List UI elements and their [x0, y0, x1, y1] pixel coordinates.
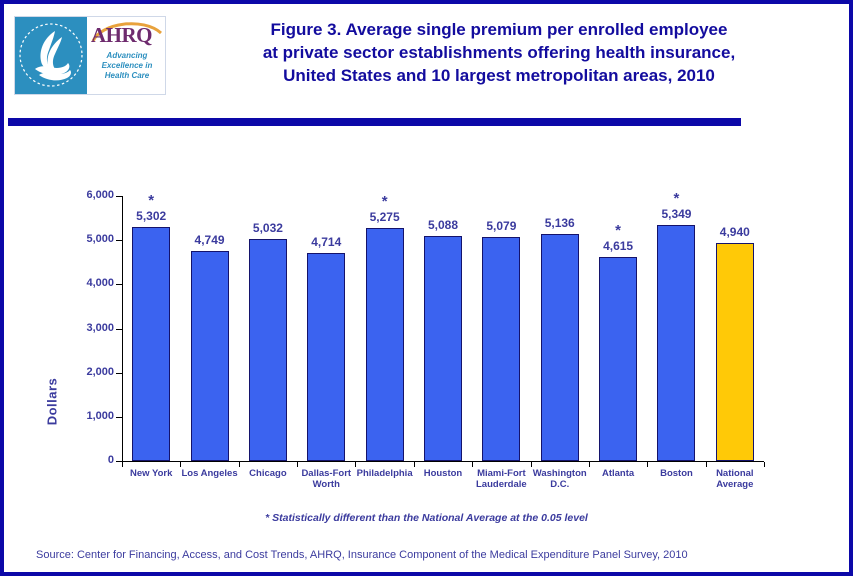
x-axis-label-line: Boston — [660, 468, 693, 479]
figure-title-line-2: at private sector establishments offerin… — [179, 41, 819, 64]
x-axis-tick-mark — [531, 462, 532, 467]
x-axis-label: Philadelphia — [355, 468, 413, 479]
x-axis-label-line: Chicago — [249, 468, 286, 479]
x-axis-label: Los Angeles — [180, 468, 238, 479]
significance-star: * — [355, 195, 415, 208]
bar-houston — [424, 236, 462, 461]
x-axis-tick-mark — [297, 462, 298, 467]
bar-value-label: 5,302 — [121, 210, 181, 223]
x-axis-label: Dallas-FortWorth — [297, 468, 355, 490]
bar-value-label: 4,615 — [588, 240, 648, 253]
bar-atlanta — [599, 257, 637, 461]
y-axis-title: Dollars — [45, 342, 60, 462]
x-axis-label-line: D.C. — [550, 479, 569, 490]
significance-star: * — [588, 224, 648, 237]
x-axis-label-line: Worth — [313, 479, 340, 490]
x-axis-tick-mark — [706, 462, 707, 467]
x-axis-tick-mark — [180, 462, 181, 467]
x-axis-label-line: Lauderdale — [476, 479, 527, 490]
x-axis-label: Miami-FortLauderdale — [472, 468, 530, 490]
ahrq-wordmark: AHRQ Advancing Excellence in Health Care — [87, 17, 165, 94]
y-axis-tick-label: 6,000 — [62, 190, 114, 201]
bar-value-label: 5,275 — [355, 211, 415, 224]
x-axis-label: NationalAverage — [706, 468, 764, 490]
y-axis-tick-mark — [116, 240, 122, 241]
bar-value-label: 5,088 — [413, 219, 473, 232]
y-axis-line — [122, 196, 123, 461]
x-axis-tick-mark — [239, 462, 240, 467]
y-axis-tick-label: 4,000 — [62, 278, 114, 289]
figure-title-line-3: United States and 10 largest metropolita… — [179, 64, 819, 87]
x-axis-tick-mark — [764, 462, 765, 467]
bar-value-label: 5,349 — [646, 208, 706, 221]
x-axis-label-line: Washington — [533, 468, 587, 479]
ahrq-tagline-line-3: Health Care — [105, 71, 149, 80]
x-axis-tick-mark — [647, 462, 648, 467]
bar-new-york — [132, 227, 170, 461]
ahrq-tagline: Advancing Excellence in Health Care — [87, 51, 165, 81]
y-axis-tick-mark — [116, 284, 122, 285]
y-axis-tick-mark — [116, 417, 122, 418]
ahrq-hhs-logo: AHRQ Advancing Excellence in Health Care — [14, 16, 166, 95]
header-divider-rule — [8, 118, 741, 126]
x-axis-label-line: Dallas-Fort — [301, 468, 351, 479]
hhs-seal-icon — [15, 17, 87, 94]
bar-value-label: 5,136 — [530, 217, 590, 230]
y-axis-tick-mark — [116, 373, 122, 374]
x-axis-label-line: Los Angeles — [181, 468, 237, 479]
bar-chicago — [249, 239, 287, 461]
x-axis-label-line: Average — [716, 479, 753, 490]
ahrq-tagline-line-2: Excellence in — [102, 61, 153, 70]
x-axis-tick-mark — [414, 462, 415, 467]
bar-chart: Dollars 01,0002,0003,0004,0005,0006,0005… — [4, 126, 849, 506]
x-axis-label: WashingtonD.C. — [531, 468, 589, 490]
x-axis-label-line: New York — [130, 468, 172, 479]
y-axis-tick-label: 2,000 — [62, 367, 114, 378]
source-note: Source: Center for Financing, Access, an… — [36, 549, 826, 561]
x-axis-tick-mark — [355, 462, 356, 467]
figure-page: AHRQ Advancing Excellence in Health Care… — [0, 0, 853, 576]
x-axis-label-line: Philadelphia — [357, 468, 413, 479]
bar-boston — [657, 225, 695, 461]
significance-footnote: * Statistically different than the Natio… — [4, 512, 849, 524]
bar-value-label: 4,749 — [180, 234, 240, 247]
hhs-seal-svg — [15, 17, 87, 94]
y-axis-tick-label: 5,000 — [62, 234, 114, 245]
x-axis-tick-mark — [122, 462, 123, 467]
y-axis-tick-mark — [116, 329, 122, 330]
x-axis-label: Boston — [647, 468, 705, 479]
x-axis-tick-mark — [589, 462, 590, 467]
bar-miami-fort-lauderdale — [482, 237, 520, 461]
ahrq-tagline-line-1: Advancing — [107, 51, 148, 60]
bar-value-label: 4,714 — [296, 236, 356, 249]
x-axis-label: Houston — [414, 468, 472, 479]
y-axis-tick-label: 3,000 — [62, 323, 114, 334]
bar-national-average — [716, 243, 754, 461]
bar-washington-d-c- — [541, 234, 579, 461]
figure-header: AHRQ Advancing Excellence in Health Care… — [4, 4, 849, 108]
x-axis-label: Chicago — [239, 468, 297, 479]
x-axis-label: New York — [122, 468, 180, 479]
bar-value-label: 4,940 — [705, 226, 765, 239]
x-axis-line — [122, 461, 764, 462]
significance-star: * — [121, 194, 181, 207]
x-axis-label-line: Miami-Fort — [477, 468, 526, 479]
bar-los-angeles — [191, 251, 229, 461]
ahrq-letters: AHRQ — [91, 25, 163, 46]
figure-title: Figure 3. Average single premium per enr… — [179, 18, 819, 87]
y-axis-tick-label: 1,000 — [62, 411, 114, 422]
bar-value-label: 5,079 — [471, 220, 531, 233]
y-axis-tick-label: 0 — [62, 455, 114, 466]
x-axis-tick-mark — [472, 462, 473, 467]
x-axis-label: Atlanta — [589, 468, 647, 479]
x-axis-label-line: Atlanta — [602, 468, 634, 479]
significance-star: * — [646, 192, 706, 205]
bar-value-label: 5,032 — [238, 222, 298, 235]
bar-philadelphia — [366, 228, 404, 461]
x-axis-label-line: National — [716, 468, 753, 479]
bar-dallas-fort-worth — [307, 253, 345, 461]
figure-title-line-1: Figure 3. Average single premium per enr… — [179, 18, 819, 41]
x-axis-label-line: Houston — [424, 468, 463, 479]
